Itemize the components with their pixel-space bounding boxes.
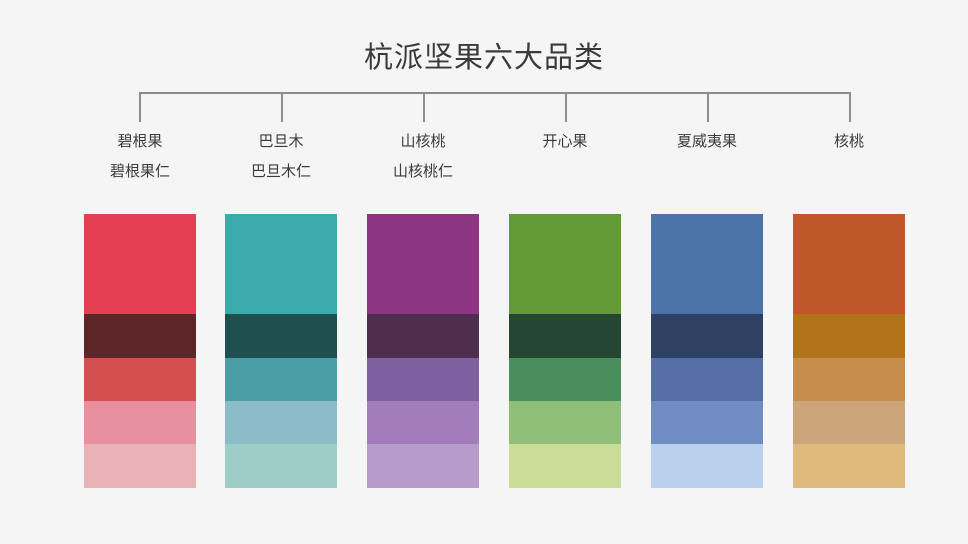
color-swatch-light <box>509 401 621 444</box>
color-swatch-head <box>793 214 905 314</box>
color-swatch-pale <box>793 444 905 488</box>
color-swatch-dark <box>84 314 196 358</box>
color-swatch-mid <box>793 358 905 401</box>
category-column-xiaweiyiguo[interactable]: 夏威夷果 <box>651 0 763 544</box>
category-columns: 碧根果碧根果仁巴旦木巴旦木仁山核桃山核桃仁开心果夏威夷果核桃 <box>0 0 968 544</box>
color-swatch-stack-hetao <box>793 214 905 488</box>
category-column-badanmu[interactable]: 巴旦木巴旦木仁 <box>225 0 337 544</box>
color-swatch-pale <box>651 444 763 488</box>
color-swatch-mid <box>225 358 337 401</box>
color-swatch-head <box>651 214 763 314</box>
color-swatch-light <box>84 401 196 444</box>
color-swatch-pale <box>84 444 196 488</box>
color-swatch-head <box>367 214 479 314</box>
color-swatch-light <box>651 401 763 444</box>
category-labels-hetao: 核桃 <box>763 130 935 154</box>
color-swatch-stack-badanmu <box>225 214 337 488</box>
color-swatch-head <box>84 214 196 314</box>
color-swatch-dark <box>793 314 905 358</box>
category-column-bigenguo[interactable]: 碧根果碧根果仁 <box>84 0 196 544</box>
color-swatch-dark <box>367 314 479 358</box>
color-swatch-pale <box>225 444 337 488</box>
category-column-shanhetao[interactable]: 山核桃山核桃仁 <box>367 0 479 544</box>
color-swatch-stack-xiaweiyiguo <box>651 214 763 488</box>
category-column-kaixinguo[interactable]: 开心果 <box>509 0 621 544</box>
color-swatch-mid <box>84 358 196 401</box>
color-swatch-light <box>367 401 479 444</box>
color-swatch-dark <box>651 314 763 358</box>
slide-canvas: 杭派坚果六大品类 碧根果碧根果仁巴旦木巴旦木仁山核桃山核桃仁开心果夏威夷果核桃 <box>0 0 968 544</box>
category-label-primary: 核桃 <box>763 130 935 154</box>
color-swatch-stack-kaixinguo <box>509 214 621 488</box>
color-swatch-head <box>509 214 621 314</box>
color-swatch-dark <box>225 314 337 358</box>
color-swatch-light <box>225 401 337 444</box>
color-swatch-pale <box>367 444 479 488</box>
color-swatch-stack-shanhetao <box>367 214 479 488</box>
color-swatch-mid <box>509 358 621 401</box>
color-swatch-stack-bigenguo <box>84 214 196 488</box>
color-swatch-light <box>793 401 905 444</box>
category-label-secondary: 山核桃仁 <box>337 160 509 184</box>
color-swatch-mid <box>367 358 479 401</box>
color-swatch-head <box>225 214 337 314</box>
category-column-hetao[interactable]: 核桃 <box>793 0 905 544</box>
color-swatch-mid <box>651 358 763 401</box>
color-swatch-dark <box>509 314 621 358</box>
color-swatch-pale <box>509 444 621 488</box>
